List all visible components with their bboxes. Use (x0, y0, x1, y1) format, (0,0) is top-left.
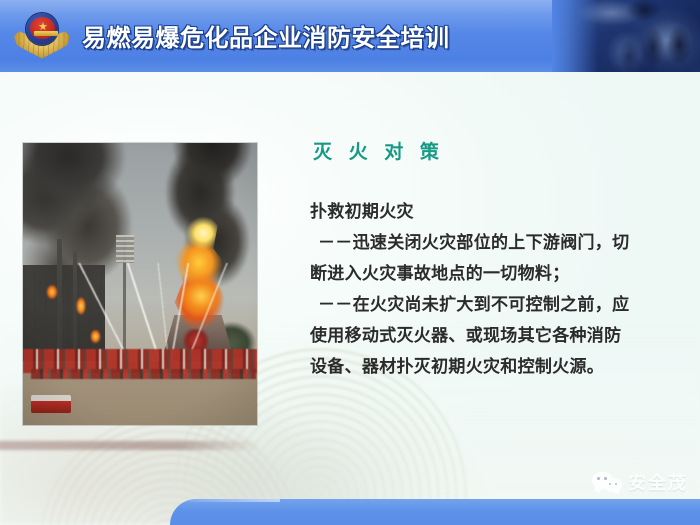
wechat-dot (597, 477, 600, 480)
slide-header-bar: 易燃易爆危化品企业消防安全培训 (0, 0, 700, 72)
fire-scene-photo (23, 143, 257, 425)
body-line: －－迅速关闭火灾部位的上下游阀门，切 (310, 228, 666, 259)
slide-footer-bar (170, 499, 700, 525)
body-line: 设备、器材扑灭初期火灾和控制火源。 (310, 352, 666, 383)
wechat-bubble-small (604, 478, 622, 492)
emblem-disc (26, 13, 58, 45)
wechat-dot (609, 483, 611, 485)
body-line: 扑救初期火灾 (310, 197, 666, 228)
header-photo-figures (552, 0, 700, 72)
police-fire-emblem-icon (14, 10, 70, 62)
watermark-label: 安全茂 (628, 469, 688, 495)
emblem-star-icon (39, 22, 48, 31)
presentation-slide: 易燃易爆危化品企业消防安全培训 灭 火 对 策 扑救初期火灾 －－迅速关闭火灾部… (0, 0, 700, 525)
slide-body-text: 扑救初期火灾 －－迅速关闭火灾部位的上下游阀门，切 断进入火灾事故地点的一切物料… (310, 197, 666, 383)
section-heading: 灭 火 对 策 (313, 142, 666, 163)
header-firefighter-photo (552, 0, 700, 72)
wechat-icon (592, 472, 622, 492)
photo-vignette (23, 143, 257, 425)
body-line: －－在火灾尚未扩大到不可控制之前，应 (310, 290, 666, 321)
page-title: 易燃易爆危化品企业消防安全培训 (82, 26, 450, 50)
watermark: 安全茂 (592, 469, 688, 495)
body-line: 使用移动式灭火器、或现场其它各种消防 (310, 321, 666, 352)
body-line: 断进入火灾事故地点的一切物料； (310, 259, 666, 290)
wechat-dot (615, 483, 617, 485)
slide-text-column: 灭 火 对 策 扑救初期火灾 －－迅速关闭火灾部位的上下游阀门，切 断进入火灾事… (310, 142, 666, 383)
emblem-shield (30, 17, 55, 39)
emblem-base (34, 31, 58, 36)
